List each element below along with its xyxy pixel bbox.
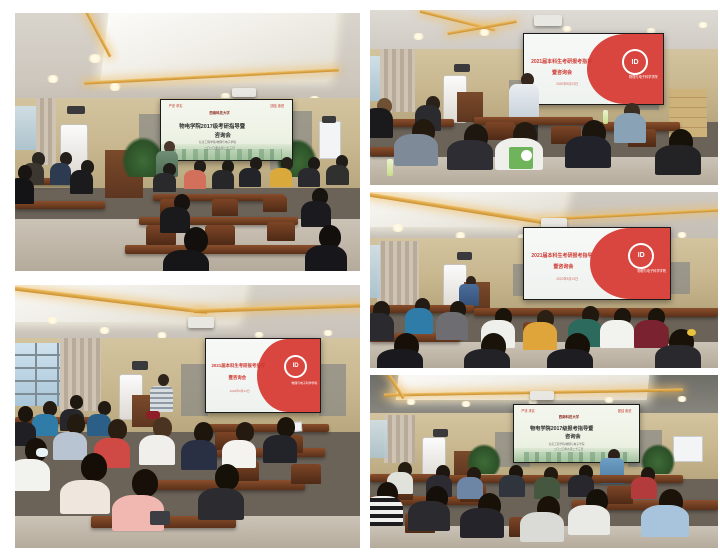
college-emblem-icon: ID — [628, 243, 654, 269]
slide-date: 2020年9月23日 — [230, 389, 250, 393]
slide-subtitle-line1: 信息工程学院/物理与电子学院 — [199, 140, 236, 144]
projection-screen: 2021届本科生考研报考指导 暨咨询会 2020年9月23日 ID 物理与电子科… — [523, 33, 664, 105]
slide-subtitle-line2: 二〇二〇年九月二十三日 — [554, 447, 584, 451]
photo-bottom-left[interactable]: 2021届本科生考研报考指导 暨咨询会 2020年9月23日 ID 物理与电子科… — [15, 285, 360, 548]
slide-title-line2: 暨咨询会 — [553, 263, 573, 270]
slide-title-line2: 暨咨询会 — [552, 69, 572, 76]
photo-bottom-right[interactable]: 严谨 求实 团结 奋进 西南科技大学 物电学院2017级报考指导暨 咨询会 信息… — [370, 375, 718, 548]
slide-title-line2: 咨询会 — [565, 433, 581, 440]
slide-header-right: 团结 奋进 — [270, 103, 284, 108]
photo-collage: 严谨 求实 团结 奋进 西南科技大学 物电学院2017级考研指导暨 咨询会 信息… — [0, 0, 720, 560]
slide-date: 2020年9月23日 — [556, 276, 578, 281]
water-bottle — [387, 159, 393, 176]
emblem-letters: ID — [293, 363, 299, 369]
emblem-letters: ID — [638, 252, 645, 259]
photo-middle-right[interactable]: 2021届本科生考研报考指导 暨咨询会 2020年9月23日 ID 物理与电子科… — [370, 192, 718, 368]
slide-title-line1: 2021届本科生考研报考指导 — [531, 58, 592, 65]
slide-title-line1: 物电学院2017级考研指导暨 — [179, 122, 245, 130]
slide-university-name: 西南科技大学 — [209, 110, 229, 115]
slide-subtitle-line2: 二〇二〇年九月二十三日 — [204, 146, 235, 150]
projection-screen: 2021届本科生考研报考指导 暨咨询会 2020年9月23日 ID 物理与电子科… — [523, 227, 671, 299]
projection-screen: 严谨 求实 团结 奋进 西南科技大学 物电学院2017级考研指导暨 咨询会 信息… — [160, 99, 293, 160]
slide-title-line2: 暨咨询会 — [229, 375, 247, 381]
slide-title-line1: 2021届本科生考研报考指导 — [531, 252, 592, 259]
slide-date: 2020年9月23日 — [556, 81, 578, 86]
college-emblem-icon: ID — [622, 49, 648, 75]
slide-title-line2: 咨询会 — [215, 131, 231, 139]
emblem-letters: ID — [632, 59, 639, 66]
slide-title-line1: 2021届本科生考研报考指导 — [211, 363, 265, 369]
slide-header-left: 严谨 求实 — [169, 103, 183, 108]
college-emblem-icon: ID — [284, 355, 307, 378]
water-bottle — [603, 110, 608, 124]
slide-college-name: 物理与电子科学学院 — [291, 381, 317, 385]
slide-subtitle-line1: 信息工程学院/物理与电子学院 — [549, 442, 585, 446]
slide-title-line1: 物电学院2017级报考指导暨 — [530, 425, 593, 432]
slide-college-name: 物理与电子科学学院 — [637, 268, 666, 273]
projection-screen: 2021届本科生考研报考指导 暨咨询会 2020年9月23日 ID 物理与电子科… — [205, 338, 321, 414]
photo-top-right[interactable]: 2021届本科生考研报考指导 暨咨询会 2020年9月23日 ID 物理与电子科… — [370, 10, 718, 185]
slide-college-name: 物理与电子科学学院 — [629, 74, 658, 79]
slide-header-right: 团结 奋进 — [618, 408, 632, 413]
projection-screen: 严谨 求实 团结 奋进 西南科技大学 物电学院2017级报考指导暨 咨询会 信息… — [513, 404, 640, 463]
slide-university-name: 西南科技大学 — [559, 414, 579, 419]
slide-header-left: 严谨 求实 — [521, 408, 535, 413]
photo-top-left[interactable]: 严谨 求实 团结 奋进 西南科技大学 物电学院2017级考研指导暨 咨询会 信息… — [15, 13, 360, 271]
